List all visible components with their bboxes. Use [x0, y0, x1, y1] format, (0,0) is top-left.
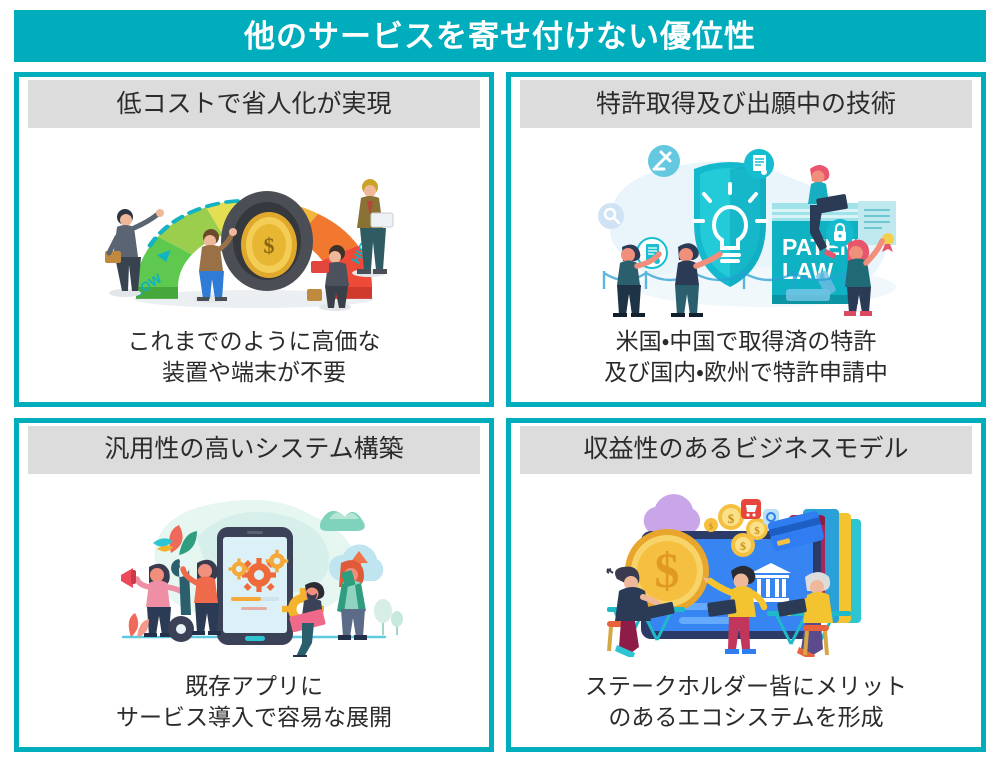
card-header-business-model: 収益性のあるビジネスモデル — [520, 426, 972, 474]
card-versatile-system: 汎用性の高いシステム構築 — [14, 418, 494, 753]
gavel-badge-icon — [648, 145, 680, 177]
svg-text:$: $ — [728, 511, 735, 526]
cart-badge-icon — [741, 499, 761, 519]
smartphone — [217, 527, 293, 645]
ecosystem-revenue-illustration: $ $ $ $ — [581, 487, 911, 657]
card-business-model: 収益性のあるビジネスモデル — [506, 418, 986, 753]
svg-text:$: $ — [264, 233, 275, 258]
card-header-versatile-system: 汎用性の高いシステム構築 — [28, 426, 480, 474]
slide-root: 他のサービスを寄せ付けない優位性 低コストで省人化が実現 — [0, 0, 1000, 765]
card-caption-text: ステークホルダー皆にメリット のあるエコシステムを形成 — [511, 671, 981, 747]
card-heading-text: 汎用性の高いシステム構築 — [104, 437, 403, 462]
card-heading-text: 特許取得及び出願中の技術 — [596, 92, 896, 117]
card-caption-text: 米国・中国で取得済の特許 及び国内・欧州で特許申請中 — [511, 326, 981, 402]
card-heading-text: 低コストで省人化が実現 — [116, 92, 391, 117]
card-low-cost: 低コストで省人化が実現 — [14, 72, 494, 407]
card-patent: 特許取得及び出願中の技術 — [506, 72, 986, 407]
illustration-cost-gauge: $ LOW HIGH — [19, 128, 489, 326]
slide-title: 他のサービスを寄せ付けない優位性 — [244, 21, 756, 52]
illustration-patent-law: PATENT LAW — [511, 128, 981, 326]
illustration-mobile-app — [19, 474, 489, 672]
search-badge-icon — [598, 203, 624, 229]
svg-text:$: $ — [754, 525, 760, 537]
illustration-ecosystem-revenue: $ $ $ $ — [511, 474, 981, 672]
card-header-patent: 特許取得及び出願中の技術 — [520, 80, 972, 128]
card-header-low-cost: 低コストで省人化が実現 — [28, 80, 480, 128]
patent-law-illustration: PATENT LAW — [576, 137, 916, 317]
svg-text:$: $ — [655, 542, 680, 598]
svg-text:$: $ — [740, 539, 746, 553]
card-heading-text: 収益性のあるビジネスモデル — [583, 437, 908, 462]
cost-gauge-illustration: $ LOW HIGH — [89, 137, 419, 317]
certificate-badge-icon — [744, 149, 774, 179]
mobile-app-illustration — [89, 487, 419, 657]
card-caption-text: 既存アプリに サービス導入で容易な展開 — [19, 671, 489, 747]
svg-text:$: $ — [709, 522, 713, 531]
slide-banner: 他のサービスを寄せ付けない優位性 — [14, 10, 986, 62]
card-caption-text: これまでのように高価な 装置や端末が不要 — [19, 326, 489, 402]
advantage-card-grid: 低コストで省人化が実現 — [14, 72, 986, 752]
